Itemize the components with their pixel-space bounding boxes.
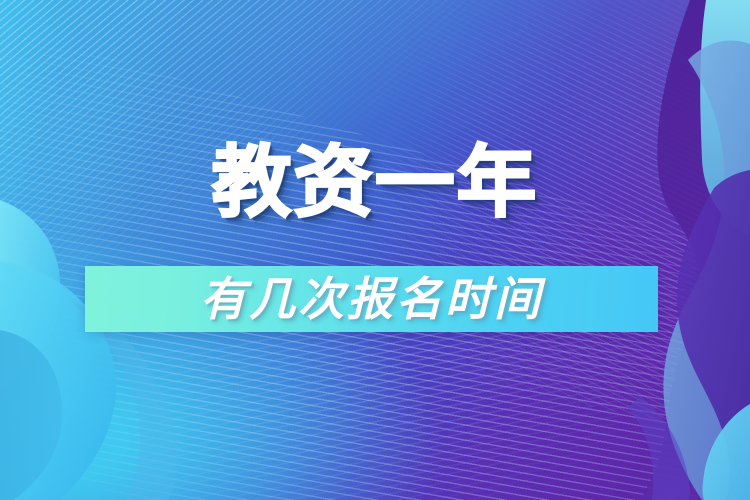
promo-banner: 教资一年 有几次报名时间	[0, 0, 750, 500]
subtitle-text: 有几次报名时间	[85, 266, 658, 332]
banner-content: 教资一年 有几次报名时间	[0, 0, 750, 500]
subtitle-band: 有几次报名时间	[85, 266, 658, 332]
page-title: 教资一年	[0, 143, 750, 221]
